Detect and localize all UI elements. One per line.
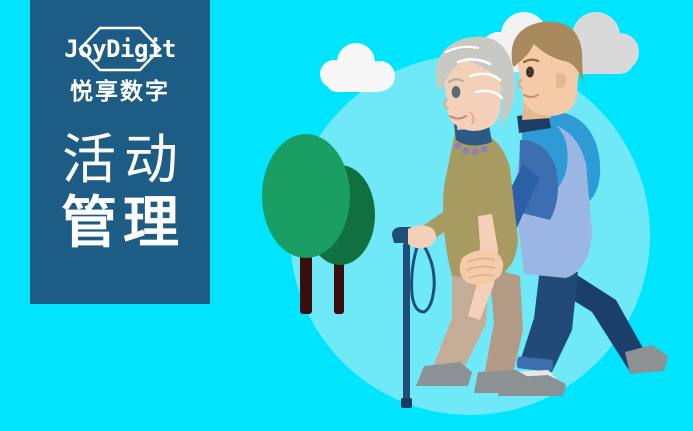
young-man-eye <box>526 67 534 78</box>
headline-line-1: 活动 <box>54 133 186 188</box>
elderly-hand-on-cane <box>408 225 436 248</box>
headline-line-2: 管理 <box>54 194 186 251</box>
elderly-eye <box>452 86 461 98</box>
poster-canvas: JoyDigit 悦享数字 活动 管理 <box>0 0 693 431</box>
page-title: 活动 管理 <box>54 133 186 251</box>
logo-wordmark: JoyDigit <box>45 26 195 72</box>
brand-logo: JoyDigit <box>45 26 195 72</box>
cane-tip <box>401 398 412 408</box>
brand-name-cn: 悦享数字 <box>70 80 170 103</box>
title-panel: JoyDigit 悦享数字 活动 管理 <box>30 0 210 304</box>
